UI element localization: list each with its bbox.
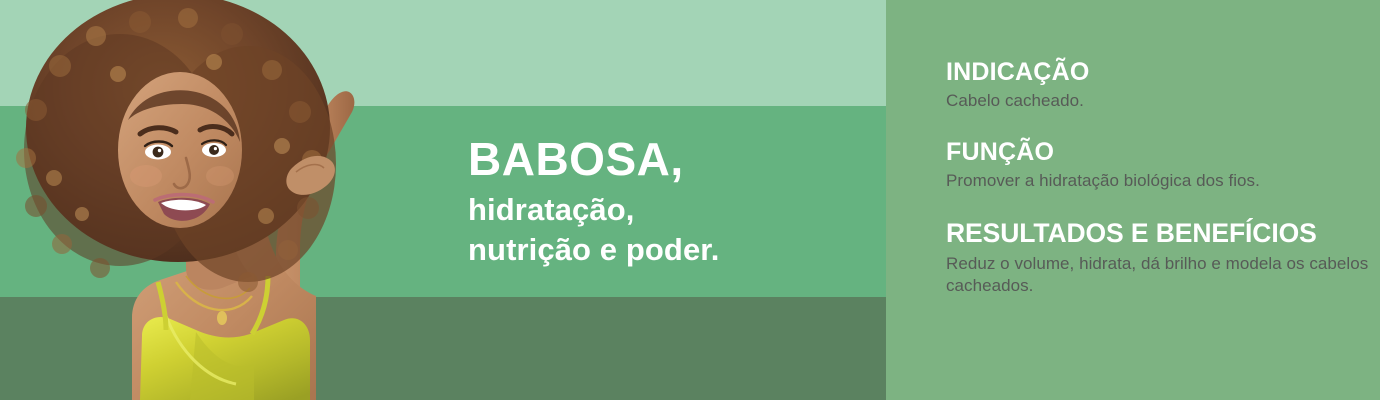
info-block-list: INDICAÇÃO Cabelo cacheado. FUNÇÃO Promov… — [946, 58, 1371, 297]
info-title-funcao: FUNÇÃO — [946, 138, 1371, 166]
necklace-pendant — [217, 311, 227, 325]
headline-line-2: hidratação, — [468, 190, 868, 230]
info-block-funcao: FUNÇÃO Promover a hidratação biológica d… — [946, 138, 1371, 192]
info-block-resultados: RESULTADOS E BENEFÍCIOS Reduz o volume, … — [946, 219, 1371, 298]
model-photo — [0, 0, 380, 400]
info-body-resultados: Reduz o volume, hidrata, dá brilho e mod… — [946, 253, 1371, 298]
headline: BABOSA, hidratação, nutrição e poder. — [468, 136, 868, 269]
info-title-resultados: RESULTADOS E BENEFÍCIOS — [946, 219, 1371, 249]
product-banner: INDICAÇÃO Cabelo cacheado. FUNÇÃO Promov… — [0, 0, 1380, 400]
info-block-indicacao: INDICAÇÃO Cabelo cacheado. — [946, 58, 1371, 112]
model-cheek-highlight — [130, 165, 162, 187]
model-illustration — [0, 0, 380, 400]
info-title-indicacao: INDICAÇÃO — [946, 58, 1371, 86]
headline-line-1: BABOSA, — [468, 136, 868, 182]
headline-line-3: nutrição e poder. — [468, 230, 868, 270]
info-panel: INDICAÇÃO Cabelo cacheado. FUNÇÃO Promov… — [886, 0, 1380, 400]
info-body-funcao: Promover a hidratação biológica dos fios… — [946, 170, 1371, 192]
info-body-indicacao: Cabelo cacheado. — [946, 90, 1371, 112]
